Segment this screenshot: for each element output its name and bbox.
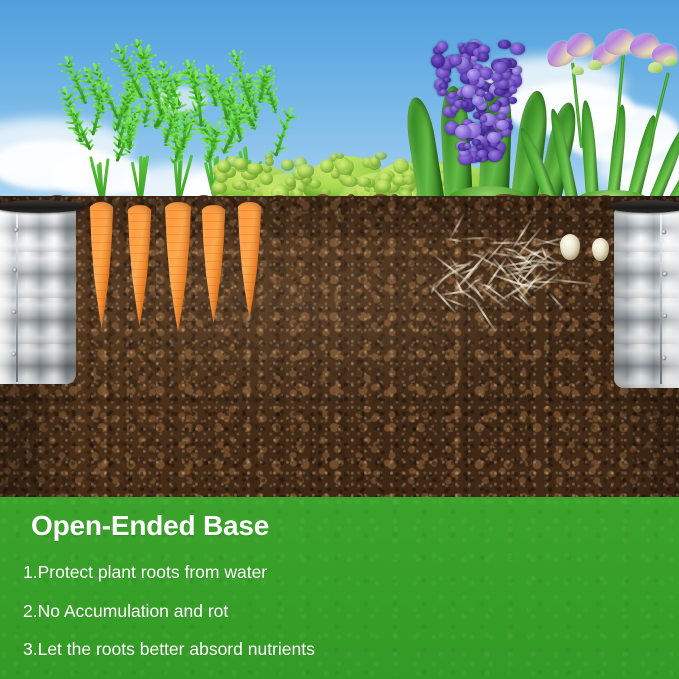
product-feature-image: Open-Ended Base 1.Protect plant roots fr…: [0, 0, 679, 679]
lettuce-frill: [336, 153, 344, 159]
lettuce-frill: [336, 159, 353, 176]
hyacinth-floret: [439, 83, 447, 89]
carrot-frond: [153, 127, 154, 128]
hyacinth-flower-head: [432, 40, 528, 164]
carrot-frond: [164, 141, 165, 142]
hyacinth-floret: [510, 43, 525, 55]
hyacinth-floret: [509, 86, 517, 94]
lettuce-frill: [281, 159, 294, 171]
carrot-frond: [274, 156, 275, 157]
hyacinth-floret: [496, 120, 509, 131]
banner-title: Open-Ended Base: [31, 510, 269, 542]
hyacinth-floret: [477, 150, 487, 157]
hyacinth-floret: [488, 150, 503, 161]
raised-bed-panel-right: [614, 206, 679, 388]
lettuce-frill: [402, 176, 415, 185]
freesia-bud: [572, 66, 584, 75]
carrot-frond: [182, 148, 183, 149]
lettuce-frill: [217, 160, 231, 173]
lettuce-frill: [357, 177, 370, 187]
freesia-bud: [664, 56, 677, 66]
lettuce-frill: [285, 177, 295, 188]
hyacinth-floret: [478, 52, 490, 62]
carrot-frond: [258, 102, 259, 103]
panel-gloss: [0, 206, 76, 384]
hyacinth-floret: [431, 54, 445, 68]
feature-list-item: 1.Protect plant roots from water: [23, 564, 315, 582]
panel-gloss: [614, 206, 679, 388]
carrot-frond: [129, 149, 130, 150]
carrot-frond: [159, 115, 160, 116]
carrot-frond: [275, 110, 276, 111]
hyacinth-floret: [437, 41, 448, 52]
bolt-icon: [14, 228, 18, 232]
lettuce-frill: [260, 173, 273, 185]
carrot-frond: [200, 127, 201, 128]
hyacinth-floret: [455, 125, 471, 139]
feature-list: 1.Protect plant roots from water 2.No Ac…: [23, 564, 315, 679]
hyacinth-floret: [462, 85, 475, 98]
lettuce-frill: [265, 158, 274, 166]
lettuce-frill: [342, 176, 358, 187]
raised-bed-rim-right: [608, 200, 679, 213]
bolt-icon: [663, 314, 667, 318]
carrot-frond: [115, 130, 116, 131]
bolt-icon: [663, 272, 667, 276]
hyacinth-floret: [440, 89, 447, 95]
feature-banner: Open-Ended Base 1.Protect plant roots fr…: [0, 497, 679, 679]
feature-list-item: 2.No Accumulation and rot: [23, 603, 315, 621]
hyacinth-floret: [484, 93, 494, 101]
lettuce-frill: [297, 164, 313, 179]
carrot-frond: [208, 159, 209, 160]
bolt-icon: [662, 356, 666, 360]
bolt-icon: [662, 230, 666, 234]
carrot-frond: [117, 147, 118, 148]
freesia-bud: [588, 60, 602, 70]
panel-seam: [16, 212, 18, 382]
hyacinth-floret: [498, 40, 511, 50]
lettuce-frill: [376, 179, 390, 193]
lettuce-frill: [298, 184, 305, 191]
carrot-frond: [250, 107, 251, 108]
hyacinth-floret: [472, 139, 481, 145]
hyacinth-floret: [450, 55, 462, 66]
hyacinth-floret: [508, 97, 517, 104]
hyacinth-floret: [467, 69, 480, 80]
bolt-icon: [13, 268, 17, 272]
carrot-frond: [255, 118, 256, 119]
bolt-icon: [12, 352, 16, 356]
freesia-bud: [648, 62, 663, 73]
hyacinth-floret: [487, 132, 501, 144]
feature-list-item: 3.Let the roots better absord nutrients: [23, 641, 315, 659]
lettuce-frill: [375, 152, 387, 160]
bolt-icon: [12, 310, 16, 314]
carrot-frond: [215, 105, 216, 106]
raised-bed-panel-left: [0, 206, 76, 384]
carrot-frond: [253, 127, 254, 128]
carrot-frond: [238, 139, 239, 140]
lettuce-frill: [239, 184, 248, 191]
